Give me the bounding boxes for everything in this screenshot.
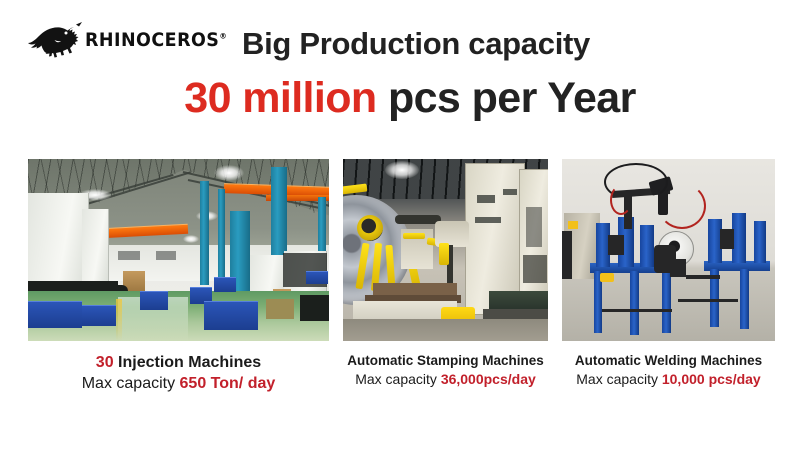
caption-stamping: Automatic Stamping Machines Max capacity…: [337, 352, 554, 388]
photo-panel-welding: [562, 159, 775, 341]
headline-main: 30 million pcs per Year: [0, 76, 800, 121]
caption-count: 30: [96, 354, 114, 371]
caption-title-text: Automatic Stamping Machines: [347, 353, 544, 368]
headline-subtitle: Big Production capacity: [0, 28, 800, 61]
caption-value: 36,000pcs/day: [441, 371, 536, 387]
caption-injection: 30 Injection Machines Max capacity 650 T…: [28, 352, 329, 394]
caption-prefix: Max capacity: [82, 375, 180, 392]
caption-subtitle: Max capacity 650 Ton/ day: [28, 373, 329, 394]
caption-title-text: Injection Machines: [114, 354, 262, 371]
caption-title: Automatic Welding Machines: [556, 352, 781, 370]
caption-row: 30 Injection Machines Max capacity 650 T…: [0, 352, 800, 402]
headline-rest: pcs per Year: [377, 74, 636, 122]
caption-value: 10,000 pcs/day: [662, 371, 761, 387]
caption-title-text: Automatic Welding Machines: [575, 353, 762, 368]
headline-highlight: 30 million: [184, 74, 376, 122]
photo-panel-injection: [28, 159, 329, 341]
caption-welding: Automatic Welding Machines Max capacity …: [556, 352, 781, 388]
caption-prefix: Max capacity: [355, 371, 441, 387]
automatic-welding-station-photo: [562, 159, 775, 341]
injection-moulding-workshop-photo: [28, 159, 329, 341]
caption-title: Automatic Stamping Machines: [337, 352, 554, 370]
photo-panel-stamping: [343, 159, 548, 341]
slide-header: RHINOCEROS® Big Production capacity 30 m…: [0, 0, 800, 145]
caption-prefix: Max capacity: [576, 371, 662, 387]
caption-value: 650 Ton/ day: [180, 375, 276, 392]
caption-subtitle: Max capacity 10,000 pcs/day: [556, 370, 781, 388]
caption-title: 30 Injection Machines: [28, 352, 329, 373]
automatic-stamping-press-photo: [343, 159, 548, 341]
caption-subtitle: Max capacity 36,000pcs/day: [337, 370, 554, 388]
photo-row: [0, 159, 800, 341]
